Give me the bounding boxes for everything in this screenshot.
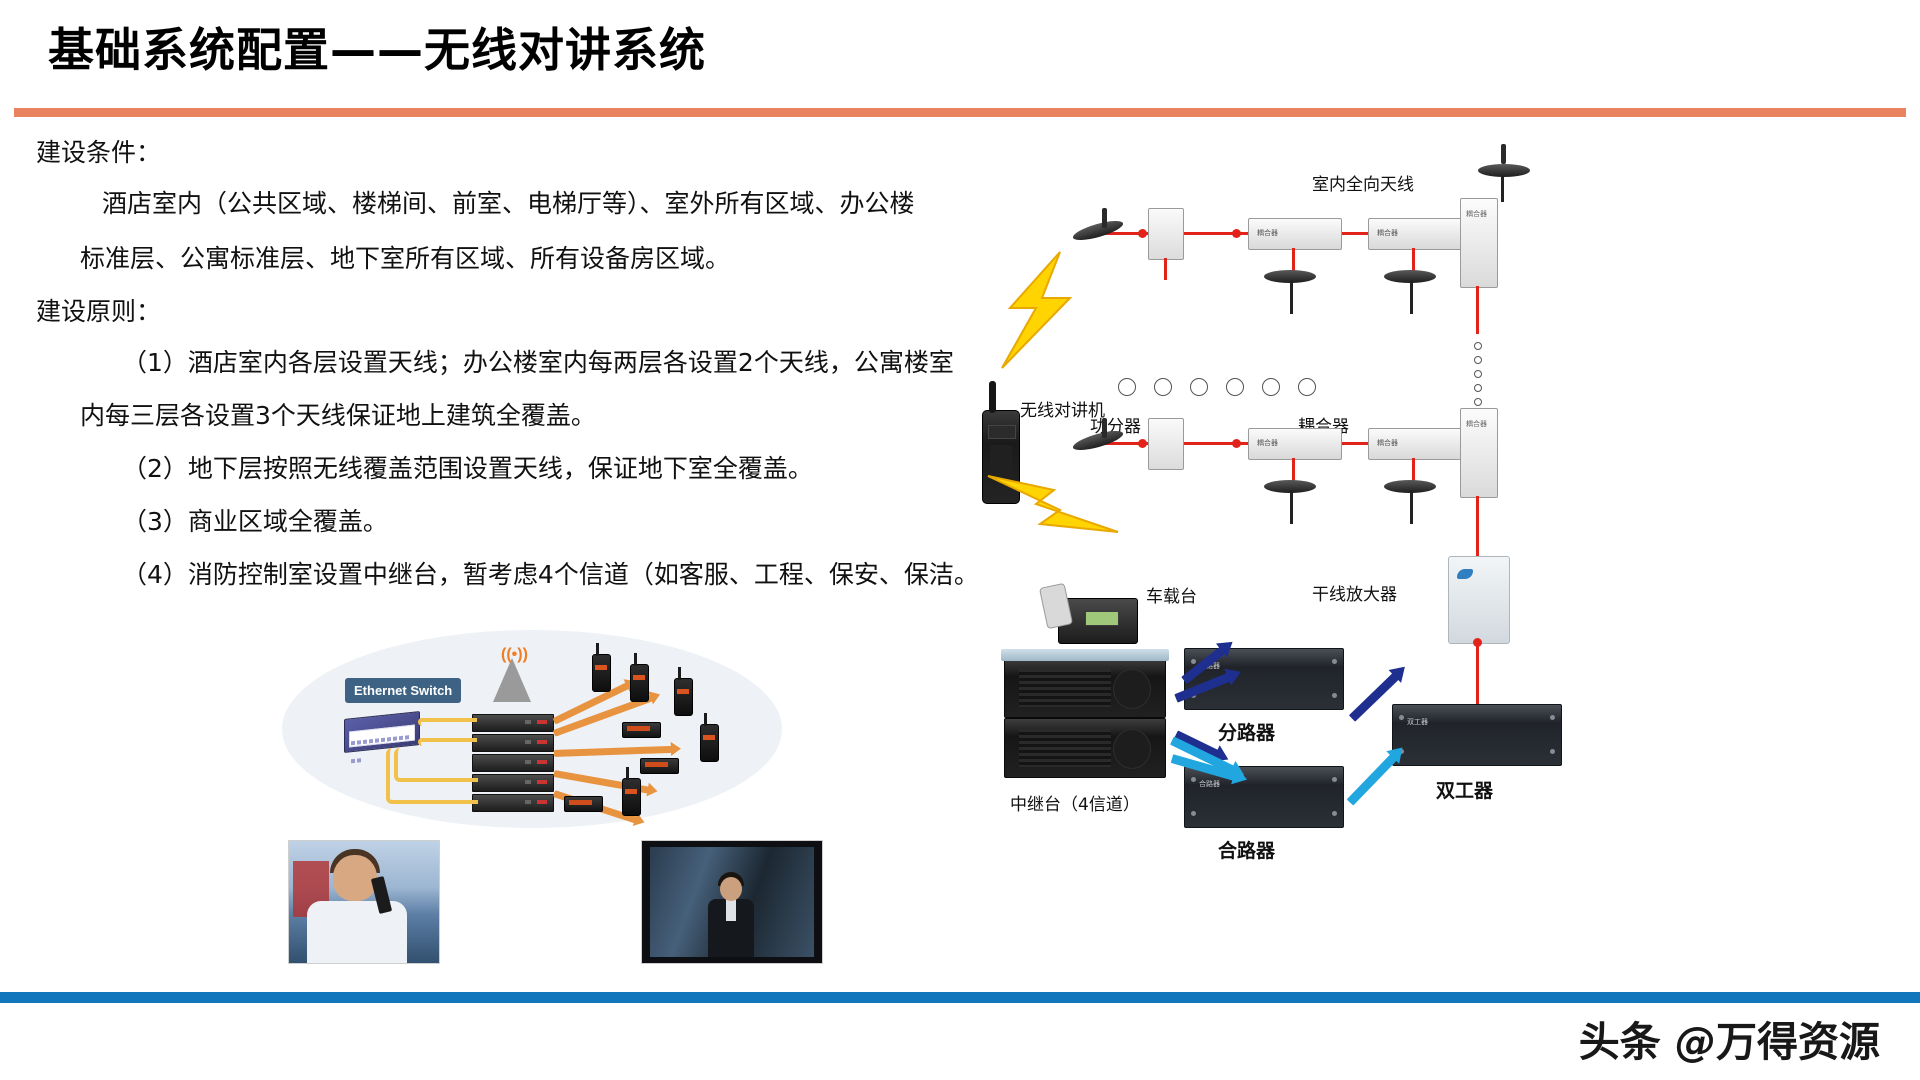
rf-line — [1164, 258, 1167, 280]
coupler-face-text: 耦合器 — [1257, 228, 1278, 238]
rf-riser-line — [1476, 286, 1479, 334]
rack-unit — [472, 794, 554, 812]
label-duplexer: 双工器 — [1436, 776, 1493, 803]
duplexer-face-text: 双工器 — [1407, 717, 1428, 727]
slide-root: 基础系统配置——无线对讲系统 建设条件： 酒店室内（公共区域、楼梯间、前室、电梯… — [0, 0, 1920, 1080]
rf-node — [1138, 229, 1147, 238]
mobile-station-device — [1058, 598, 1138, 644]
principle-item-2: （2）地下层按照无线覆盖范围设置天线，保证地下室全覆盖。 — [122, 456, 1120, 481]
rf-bolt-icon — [988, 250, 1078, 370]
antenna-continuation-dots — [1118, 378, 1316, 396]
condition-label: 建设条件： — [36, 140, 1120, 165]
power-splitter-device — [1148, 208, 1184, 260]
label-splitter: 分路器 — [1218, 718, 1275, 745]
repeater-unit — [1004, 658, 1166, 718]
mobile-display — [1085, 611, 1119, 626]
cable — [418, 738, 477, 746]
principle-item-1b: 内每三层各设置3个天线保证地上建筑全覆盖。 — [80, 403, 1120, 428]
ceiling-antenna-icon — [1384, 480, 1442, 526]
label-combiner: 合路器 — [1218, 836, 1275, 863]
rf-bolt-icon — [984, 460, 1124, 550]
wall-antenna-icon — [1072, 414, 1130, 460]
switch-ports — [349, 725, 415, 748]
network-illustration: Ethernet Switch ((•)) — [282, 630, 782, 828]
rf-riser-line — [1476, 642, 1479, 704]
brand-prefix: 头条 — [1579, 1018, 1661, 1066]
footer-divider — [0, 992, 1920, 1003]
ceiling-antenna-icon — [1384, 270, 1442, 316]
condition-line-2: 标准层、公寓标准层、地下室所有区域、所有设备房区域。 — [80, 246, 1120, 271]
label-mobile-station: 车载台 — [1146, 582, 1197, 607]
header-divider — [14, 108, 1906, 117]
trunk-amplifier-device — [1448, 556, 1510, 644]
coupler-device: 耦合器 — [1368, 218, 1462, 250]
coupler-device: 耦合器 — [1368, 428, 1462, 460]
principle-item-1a: （1）酒店室内各层设置天线；办公楼室内每两层各设置2个天线，公寓楼室 — [122, 350, 1120, 375]
duplexer-device: 双工器 — [1392, 704, 1562, 766]
riser-coupler-device: 耦合器 — [1460, 408, 1498, 498]
coupler-face-text: 耦合器 — [1377, 438, 1398, 448]
watermark-brand: 头条 @万得资源 — [1579, 1008, 1880, 1068]
cable — [386, 748, 478, 804]
combiner-device: 合路器 — [1184, 766, 1344, 828]
coupler-face-text: 耦合器 — [1257, 438, 1278, 448]
photo-security-guard — [288, 840, 440, 964]
handheld-radio-icon — [592, 654, 611, 692]
mobile-radio-icon — [622, 722, 661, 738]
rack-unit — [472, 774, 554, 792]
rf-riser-line — [1476, 496, 1479, 556]
label-repeater: 中继台（4信道） — [1010, 790, 1140, 815]
page-title: 基础系统配置——无线对讲系统 — [48, 14, 706, 80]
brand-name: 万得资源 — [1716, 1018, 1880, 1066]
coupler-face-text: 耦合器 — [1377, 228, 1398, 238]
mobile-radio-icon — [640, 758, 679, 774]
brand-at-sign: @ — [1675, 1018, 1716, 1066]
rf-node — [1232, 229, 1241, 238]
principle-label: 建设原则： — [36, 299, 1120, 324]
repeater-unit — [1004, 718, 1166, 778]
principle-item-3: （3）商业区域全覆盖。 — [122, 509, 1120, 534]
signal-wave-icon: ((•)) — [501, 646, 528, 664]
rack-unit — [472, 734, 554, 752]
link-arrow-duplexer-out — [1347, 753, 1398, 805]
ceiling-antenna-icon — [1264, 480, 1322, 526]
label-indoor-omni-antenna: 室内全向天线 — [1312, 170, 1414, 195]
rf-node — [1473, 638, 1482, 647]
rf-node — [1138, 439, 1147, 448]
mobile-radio-icon — [564, 796, 603, 812]
principle-item-4: （4）消防控制室设置中继台，暂考虑4个信道（如客服、工程、保安、保洁。 — [122, 562, 1120, 587]
handheld-radio-icon — [674, 678, 693, 716]
coupler-device: 耦合器 — [1248, 428, 1342, 460]
ceiling-antenna-icon — [1264, 270, 1322, 316]
rack-unit — [472, 714, 554, 732]
ethernet-switch-label: Ethernet Switch — [345, 678, 461, 703]
photo-lobby-staff — [641, 840, 823, 964]
power-splitter-device — [1148, 418, 1184, 470]
label-trunk-amplifier: 干线放大器 — [1312, 580, 1397, 605]
rf-node — [1232, 439, 1241, 448]
rack-unit — [472, 754, 554, 772]
handheld-radio-icon — [700, 724, 719, 762]
combiner-face-text: 合路器 — [1199, 779, 1220, 789]
body-text-block: 建设条件： 酒店室内（公共区域、楼梯间、前室、电梯厅等）、室外所有区域、办公楼 … — [30, 140, 1120, 615]
riser-coupler-device: 耦合器 — [1460, 198, 1498, 288]
indoor-omni-antenna-icon — [1475, 148, 1533, 194]
wall-antenna-icon — [1072, 204, 1130, 250]
condition-line-1: 酒店室内（公共区域、楼梯间、前室、电梯厅等）、室外所有区域、办公楼 — [102, 191, 1120, 216]
wireless-system-schematic: 室内全向天线 耦合器 耦合器 — [1080, 130, 1920, 970]
coupler-device: 耦合器 — [1248, 218, 1342, 250]
cable — [418, 718, 477, 726]
handheld-radio-icon — [622, 778, 641, 816]
handheld-radio-icon — [630, 664, 649, 702]
amplifier-brand-icon — [1457, 569, 1473, 579]
radio-tower-icon — [493, 658, 531, 702]
